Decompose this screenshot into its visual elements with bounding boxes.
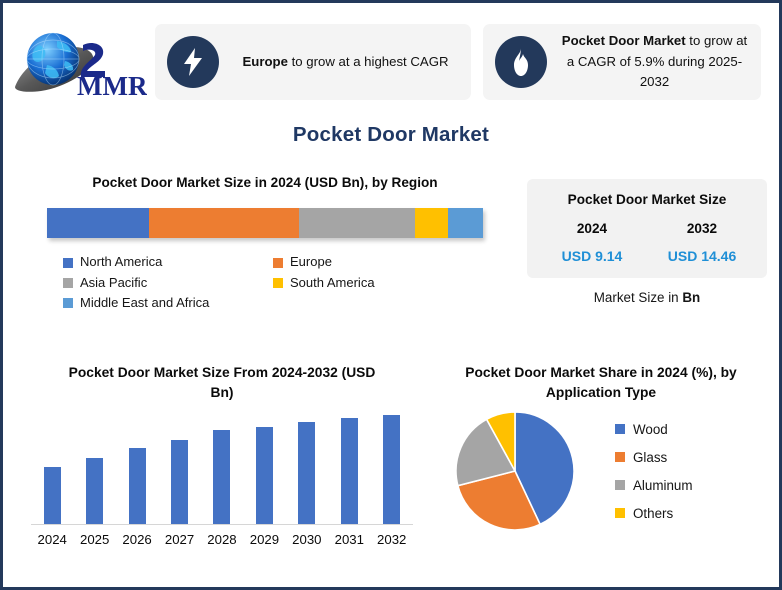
region-legend-item: North America — [63, 253, 273, 271]
region-chart-title: Pocket Door Market Size in 2024 (USD Bn)… — [19, 173, 511, 192]
pie-legend-label: Wood — [633, 422, 668, 437]
market-size-values-row: USD 9.14 USD 14.46 — [537, 248, 757, 264]
region-stacked-bar — [47, 208, 483, 238]
axis-label-2025: 2025 — [73, 532, 115, 547]
region-segment-south-america — [415, 208, 448, 238]
header-badge-europe-rest: to grow at a highest CAGR — [288, 54, 449, 69]
bar-2029 — [256, 427, 273, 524]
application-share-chart: Pocket Door Market Share in 2024 (%), by… — [427, 363, 775, 575]
region-legend-label: South America — [290, 274, 375, 292]
market-size-section: Pocket Door Market Size 2024 2032 USD 9.… — [527, 179, 767, 305]
axis-label-2029: 2029 — [243, 532, 285, 547]
axis-label-2031: 2031 — [328, 532, 370, 547]
market-size-trend-plot — [31, 415, 413, 525]
bar-column — [286, 415, 328, 524]
page-title: Pocket Door Market — [3, 123, 779, 147]
bar-2031 — [341, 418, 358, 524]
bar-column — [328, 415, 370, 524]
bar-2028 — [213, 430, 230, 524]
market-size-card: Pocket Door Market Size 2024 2032 USD 9.… — [527, 179, 767, 278]
header-badge-europe-bold: Europe — [243, 54, 288, 69]
region-legend-item: South America — [273, 274, 483, 292]
globe-logo-icon: MMR — [11, 25, 147, 99]
market-size-value-2024: USD 9.14 — [537, 248, 647, 264]
header-badge-europe-text: Europe to grow at a highest CAGR — [230, 52, 461, 72]
pie-legend-label: Others — [633, 506, 673, 521]
region-segment-europe — [149, 208, 300, 238]
market-size-footnote: Market Size in Bn — [527, 290, 767, 305]
market-size-value-2032: USD 14.46 — [647, 248, 757, 264]
market-size-trend-title: Pocket Door Market Size From 2024-2032 (… — [17, 363, 427, 403]
bar-2026 — [129, 448, 146, 524]
region-legend-item: Europe — [273, 253, 483, 271]
pie-legend-item: Wood — [615, 422, 775, 437]
header-badge-cagr-text: Pocket Door Market to grow at a CAGR of … — [558, 31, 751, 92]
bar-column — [31, 415, 73, 524]
application-share-legend: WoodGlassAluminumOthers — [603, 422, 775, 521]
region-legend-item: Middle East and Africa — [63, 294, 273, 312]
bar-2032 — [383, 415, 400, 524]
bar-2025 — [86, 458, 103, 524]
market-size-trend-xaxis: 202420252026202720282029203020312032 — [31, 532, 413, 547]
pie-chart-wrap — [427, 409, 603, 533]
application-share-body: WoodGlassAluminumOthers — [427, 409, 775, 533]
pie-legend-item: Others — [615, 506, 775, 521]
region-section: Pocket Door Market Size in 2024 (USD Bn)… — [19, 173, 511, 315]
axis-label-2024: 2024 — [31, 532, 73, 547]
legend-swatch-icon — [63, 278, 73, 288]
region-legend: North AmericaEuropeAsia PacificSouth Ame… — [63, 253, 483, 314]
bar-2030 — [298, 422, 315, 524]
market-size-year-2024: 2024 — [537, 221, 647, 236]
infographic-page: MMR Europe to grow at a highest CAGR Poc… — [0, 0, 782, 590]
flame-icon — [495, 36, 547, 88]
region-legend-item: Asia Pacific — [63, 274, 273, 292]
bar-column — [158, 415, 200, 524]
legend-swatch-icon — [615, 452, 625, 462]
bar-2024 — [44, 467, 61, 524]
header-badge-europe: Europe to grow at a highest CAGR — [155, 24, 471, 100]
pie-chart — [453, 409, 577, 533]
bar-2027 — [171, 440, 188, 524]
bar-column — [73, 415, 115, 524]
bar-column — [371, 415, 413, 524]
market-size-footnote-prefix: Market Size in — [594, 290, 683, 305]
mmr-logo: MMR — [3, 12, 155, 112]
axis-label-2026: 2026 — [116, 532, 158, 547]
region-legend-label: Asia Pacific — [80, 274, 147, 292]
legend-swatch-icon — [63, 298, 73, 308]
header-badge-cagr: Pocket Door Market to grow at a CAGR of … — [483, 24, 761, 100]
market-size-card-title: Pocket Door Market Size — [537, 190, 757, 209]
region-legend-label: Middle East and Africa — [80, 294, 209, 312]
legend-swatch-icon — [615, 424, 625, 434]
application-share-title: Pocket Door Market Share in 2024 (%), by… — [427, 363, 775, 403]
legend-swatch-icon — [615, 508, 625, 518]
region-segment-north-america — [47, 208, 149, 238]
axis-label-2027: 2027 — [158, 532, 200, 547]
legend-swatch-icon — [615, 480, 625, 490]
logo-text: MMR — [77, 71, 147, 99]
lightning-bolt-icon — [167, 36, 219, 88]
header-bar: MMR Europe to grow at a highest CAGR Poc… — [3, 3, 779, 121]
region-segment-middle-east-and-africa — [448, 208, 483, 238]
header-badge-cagr-bold: Pocket Door Market — [562, 33, 686, 48]
pie-legend-label: Aluminum — [633, 478, 693, 493]
legend-swatch-icon — [63, 258, 73, 268]
region-segment-asia-pacific — [299, 208, 415, 238]
pie-legend-item: Glass — [615, 450, 775, 465]
bar-column — [116, 415, 158, 524]
market-size-year-2032: 2032 — [647, 221, 757, 236]
market-size-footnote-unit: Bn — [682, 290, 700, 305]
region-legend-label: North America — [80, 253, 162, 271]
pie-legend-label: Glass — [633, 450, 667, 465]
pie-legend-item: Aluminum — [615, 478, 775, 493]
bar-column — [243, 415, 285, 524]
axis-label-2032: 2032 — [371, 532, 413, 547]
axis-label-2028: 2028 — [201, 532, 243, 547]
market-size-years-row: 2024 2032 — [537, 221, 757, 236]
bar-column — [201, 415, 243, 524]
axis-label-2030: 2030 — [286, 532, 328, 547]
market-size-trend-chart: Pocket Door Market Size From 2024-2032 (… — [17, 363, 427, 575]
legend-swatch-icon — [273, 258, 283, 268]
region-legend-label: Europe — [290, 253, 332, 271]
legend-swatch-icon — [273, 278, 283, 288]
